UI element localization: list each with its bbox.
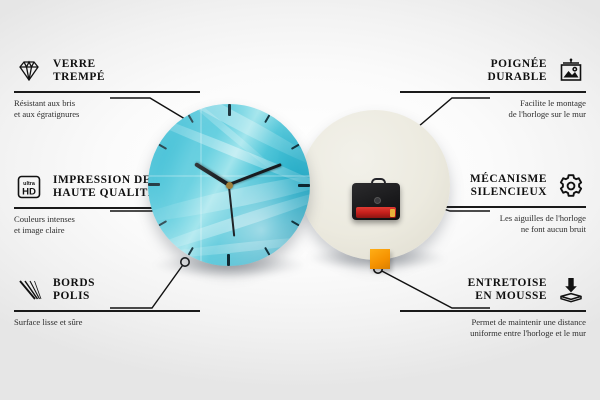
feature-title-line1: POIGNÉE xyxy=(491,58,547,70)
wall-hanger-icon xyxy=(556,56,586,86)
feature-title-line2: SILENCIEUX xyxy=(471,186,547,198)
feature-desc-line1: Permet de maintenir une distance xyxy=(400,317,586,328)
infographic-canvas: VERRE TREMPÉ Résistant aux bris et aux é… xyxy=(0,0,600,400)
feature-title-line1: BORDS xyxy=(53,277,95,289)
feature-title-line2: EN MOUSSE xyxy=(475,290,547,302)
feature-title-line2: DURABLE xyxy=(487,71,547,83)
clock-mechanism xyxy=(352,178,400,220)
polished-edges-icon xyxy=(14,275,44,305)
feature-title-line2: TREMPÉ xyxy=(53,71,105,83)
feature-title-line1: ENTRETOISE xyxy=(468,277,547,289)
feature-entretoise-en-mousse: ENTRETOISE EN MOUSSE Permet de maintenir… xyxy=(400,275,586,339)
feature-desc-line2: uniforme entre l'horloge et le mur xyxy=(400,328,586,339)
feature-poignee-durable: POIGNÉE DURABLE Facilite le montage de l… xyxy=(400,56,586,120)
mechanism-body xyxy=(352,183,400,220)
feature-title-line2: HAUTE QUALITÉ xyxy=(53,187,156,199)
feature-rule xyxy=(400,91,586,93)
feature-desc-line1: Surface lisse et sûre xyxy=(14,317,200,328)
feature-rule xyxy=(400,310,586,312)
feature-desc-line1: Facilite le montage xyxy=(400,98,586,109)
ultra-hd-icon: ultra HD xyxy=(14,172,44,202)
svg-text:HD: HD xyxy=(22,186,36,197)
feature-title-line1: MÉCANISME xyxy=(470,173,547,185)
feature-desc-line2: de l'horloge sur le mur xyxy=(400,109,586,120)
battery xyxy=(356,207,396,218)
feature-rule xyxy=(14,310,200,312)
diamond-icon xyxy=(14,56,44,86)
foam-spacer-pad xyxy=(370,249,390,269)
clock-front-face xyxy=(148,104,310,266)
gear-icon xyxy=(556,171,586,201)
foam-spacer-icon xyxy=(556,275,586,305)
feature-title-line1: VERRE xyxy=(53,58,96,70)
feature-title-line2: POLIS xyxy=(53,290,90,302)
feature-rule xyxy=(14,91,200,93)
feature-title-line1: IMPRESSION DE xyxy=(53,174,151,186)
mechanism-shaft xyxy=(374,197,381,204)
feature-bords-polis: BORDS POLIS Surface lisse et sûre xyxy=(14,275,200,328)
